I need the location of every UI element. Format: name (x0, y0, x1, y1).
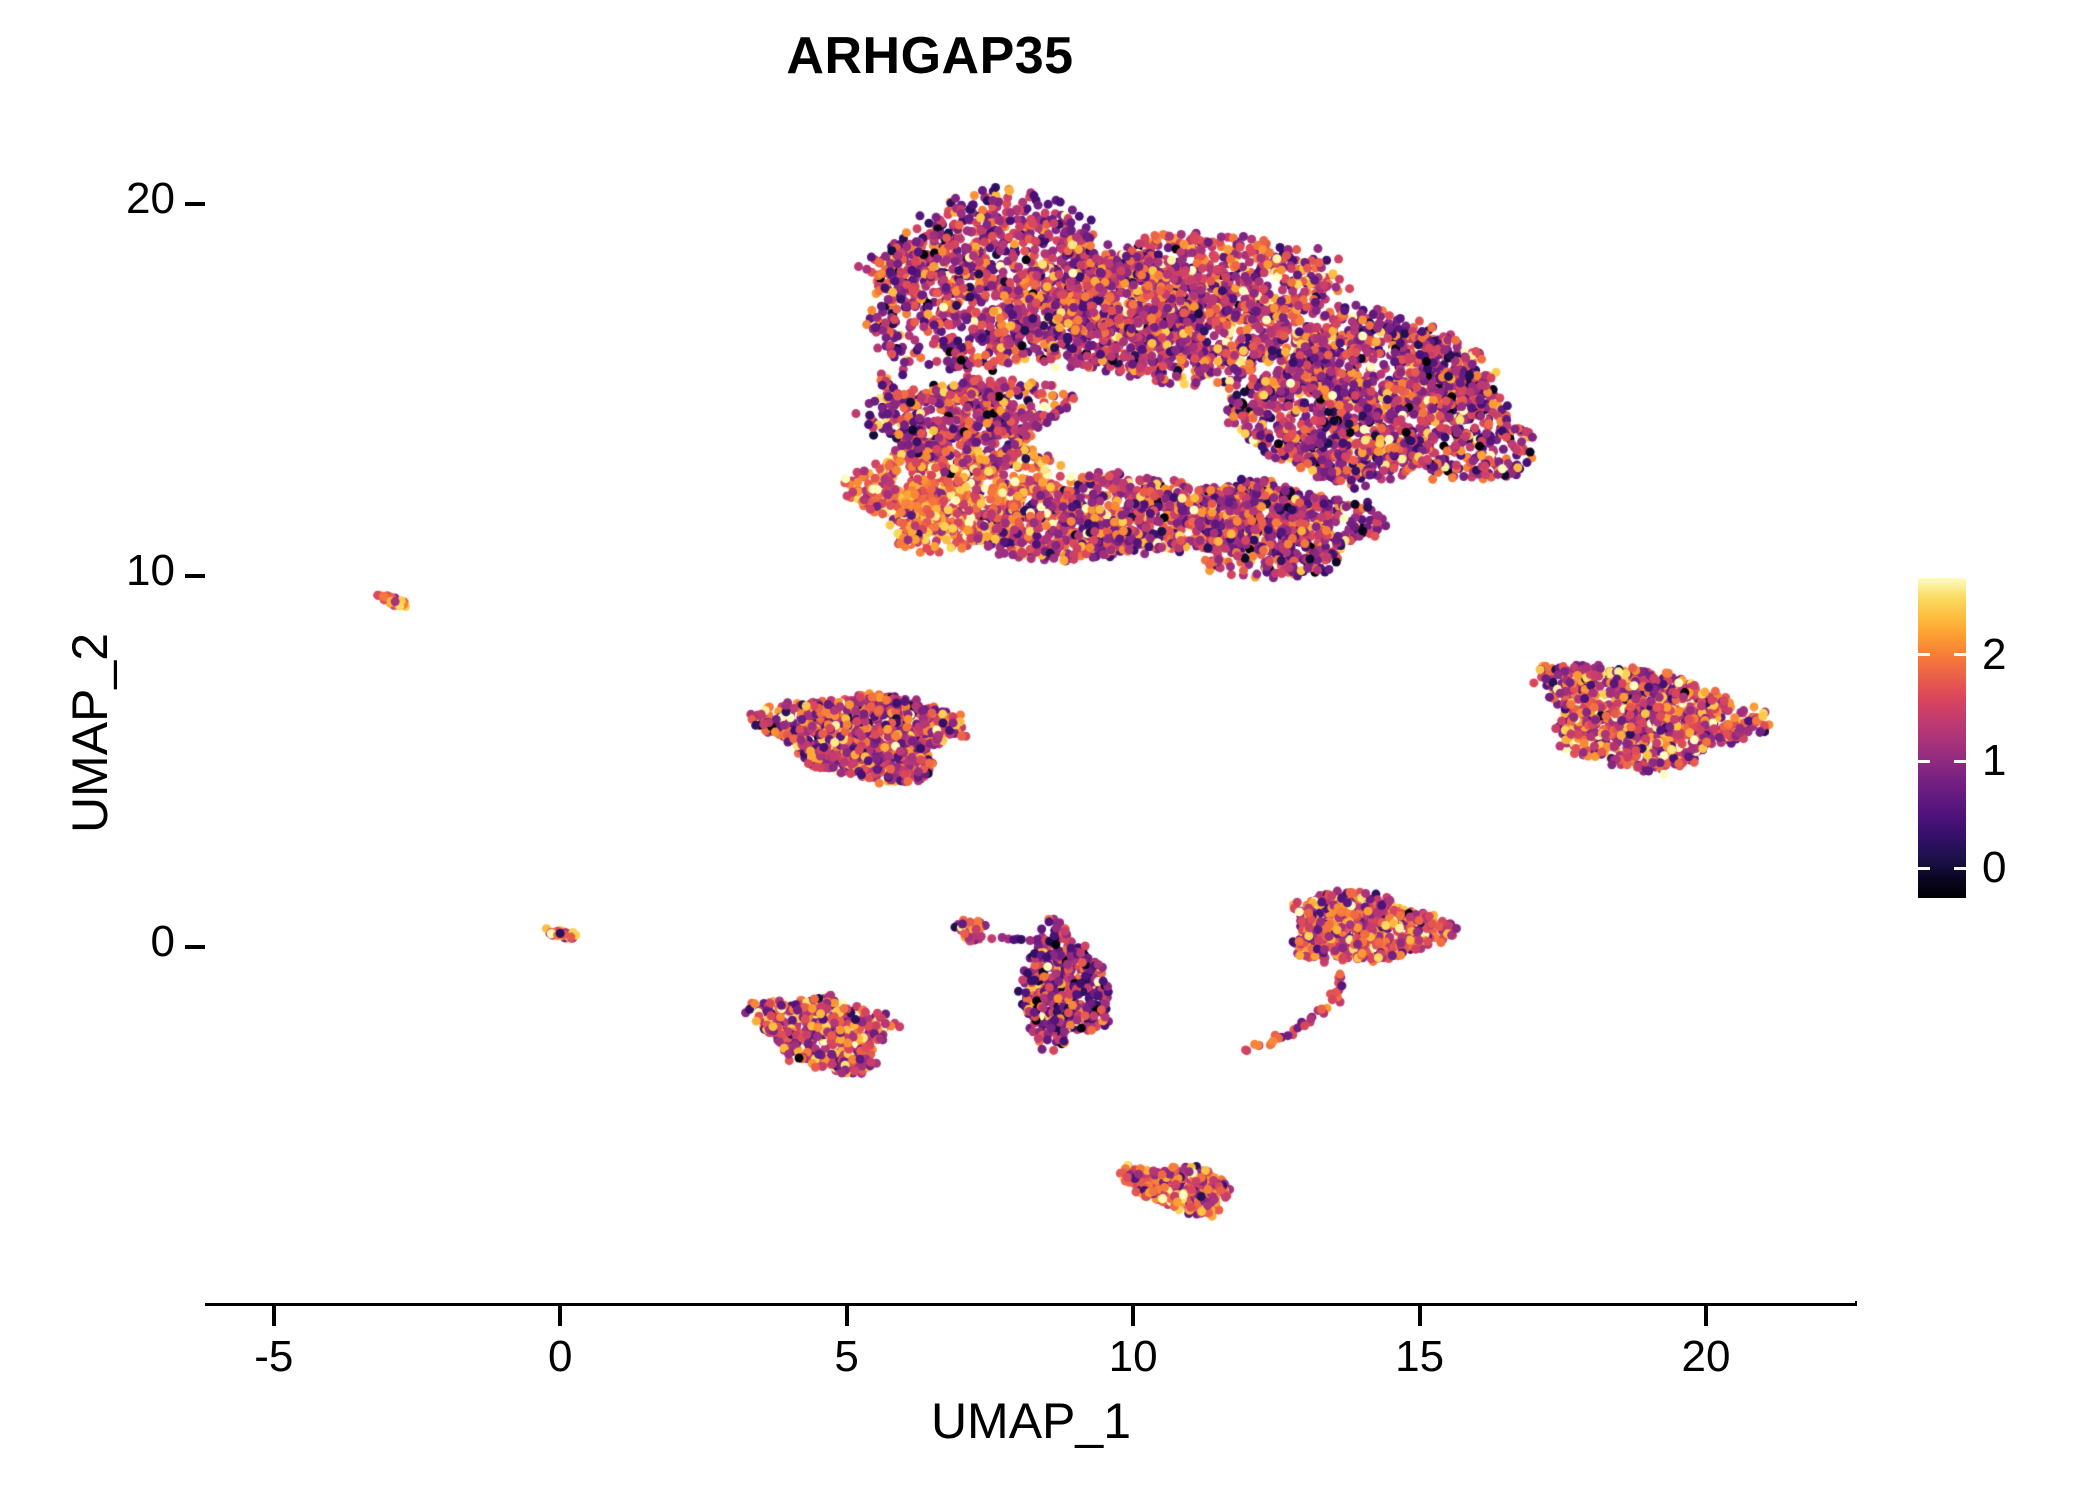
x-tick-label: 10 (1033, 1332, 1233, 1382)
colorbar-tick-mark (1954, 760, 1966, 763)
y-tick-mark (185, 945, 205, 949)
colorbar-tick-mark (1954, 867, 1966, 870)
colorbar-tick-mark (1918, 653, 1930, 656)
colorbar-tick-mark (1918, 867, 1930, 870)
colorbar-gradient (1918, 578, 1966, 898)
plot-panel (205, 145, 1855, 1303)
x-tick-mark (1131, 1306, 1135, 1326)
scatter-canvas (205, 145, 1855, 1303)
colorbar-tick-mark (1954, 653, 1966, 656)
colorbar-tick-mark (1918, 760, 1930, 763)
x-tick-mark (558, 1306, 562, 1326)
x-tick-label: 5 (747, 1332, 947, 1382)
page-title: ARHGAP35 (0, 26, 1860, 86)
x-axis-label: UMAP_1 (205, 1392, 1857, 1450)
colorbar-tick-label: 2 (1982, 633, 2006, 677)
x-tick-label: -5 (174, 1332, 374, 1382)
x-tick-label: 0 (460, 1332, 660, 1382)
x-tick-mark (1704, 1306, 1708, 1326)
colorbar-tick-label: 1 (1982, 739, 2006, 783)
y-tick-label: 20 (15, 174, 175, 224)
x-tick-mark (272, 1306, 276, 1326)
y-axis-label: UMAP_2 (61, 283, 119, 1183)
x-tick-label: 20 (1606, 1332, 1806, 1382)
colorbar-tick-label: 0 (1982, 846, 2006, 890)
x-tick-label: 15 (1320, 1332, 1520, 1382)
y-tick-mark (185, 202, 205, 206)
x-tick-mark (845, 1306, 849, 1326)
chart-root: ARHGAP35 -505101520 01020 UMAP_1 UMAP_2 … (0, 0, 2100, 1500)
x-tick-mark (1418, 1306, 1422, 1326)
y-tick-mark (185, 574, 205, 578)
